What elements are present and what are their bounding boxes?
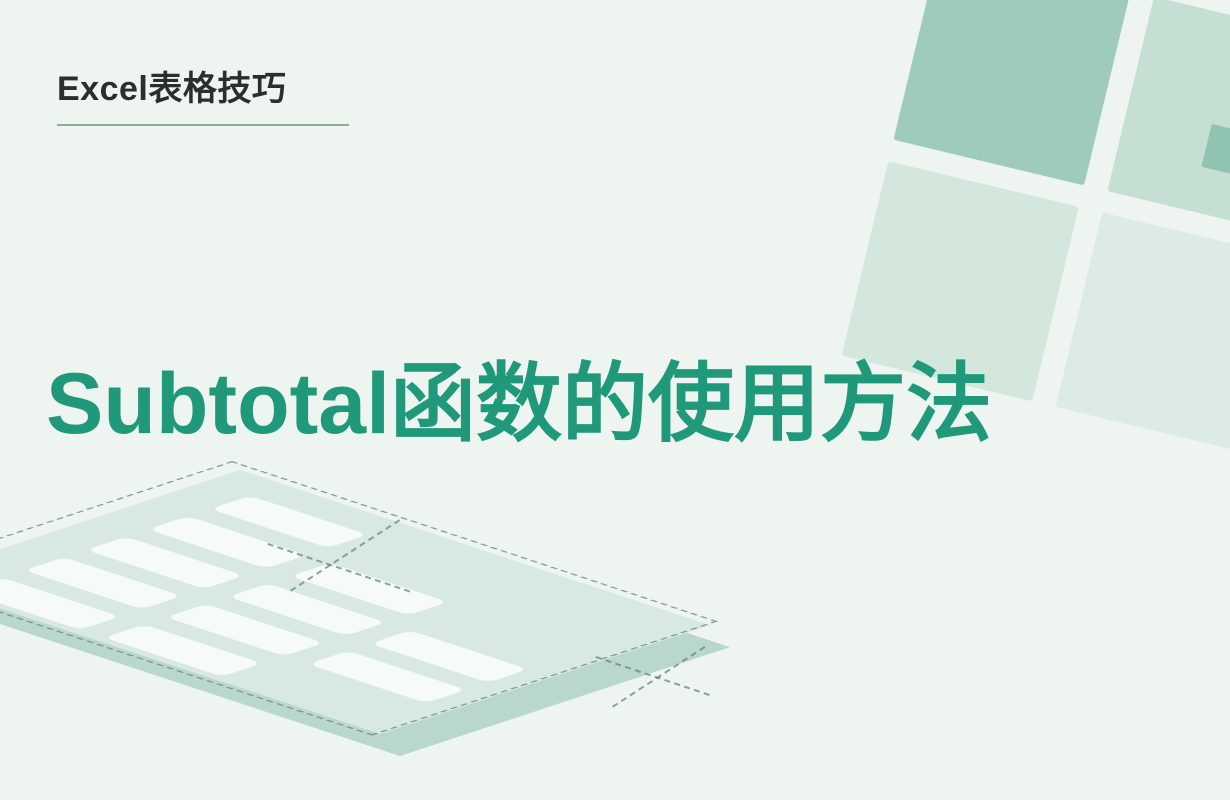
dashed-guide-line <box>290 519 400 591</box>
kicker-block: Excel表格技巧 <box>57 68 657 126</box>
sheet-bar <box>210 496 368 548</box>
sheet-bar <box>228 584 386 636</box>
sheet-bar <box>308 651 466 703</box>
sheet-bar <box>290 563 448 615</box>
dashed-guide-line <box>267 543 410 592</box>
cover-canvas: Excel表格技巧 Subtotal函数的使用方法 <box>0 0 1230 800</box>
kicker-underline <box>57 124 349 126</box>
square-bottom-right <box>1056 212 1230 452</box>
sheet-bar <box>24 557 182 609</box>
sheet-dashed-outline <box>0 461 718 736</box>
isometric-sheet-illustration <box>10 505 710 800</box>
rotated-square-grid <box>856 0 1230 396</box>
sheet-face <box>0 470 710 734</box>
sheet-bar <box>166 604 324 656</box>
kicker-text: Excel表格技巧 <box>57 68 657 111</box>
dashed-guide-line <box>595 656 709 696</box>
sheet-bar <box>370 630 528 682</box>
square-top-right <box>1107 0 1230 237</box>
sheet-bar <box>86 537 244 589</box>
sheet-bar <box>148 516 306 568</box>
edge-chip <box>1201 124 1230 176</box>
sheet-bar <box>104 624 262 676</box>
square-top-left <box>893 0 1130 185</box>
sheet-bar <box>0 578 120 630</box>
dashed-guide-line <box>612 646 705 708</box>
page-title: Subtotal函数的使用方法 <box>46 343 1056 465</box>
sheet-shadow-layer <box>0 492 730 756</box>
